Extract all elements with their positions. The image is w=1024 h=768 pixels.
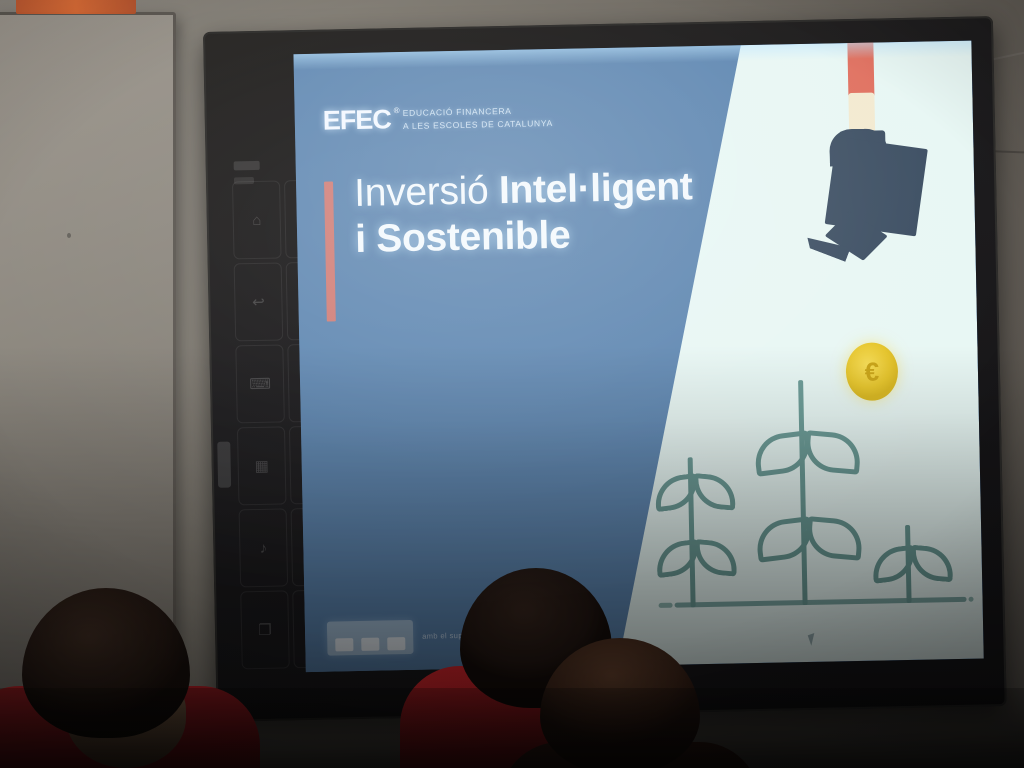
room-lighting-overlay — [0, 0, 1024, 768]
classroom-scene: ⌂ ✐ ↩ ↪ ⌨ ⚙ ▦ ▭ ♪ ▷ ❐ ⋯ EFEC® EDUCACIÓ F… — [0, 0, 1024, 768]
